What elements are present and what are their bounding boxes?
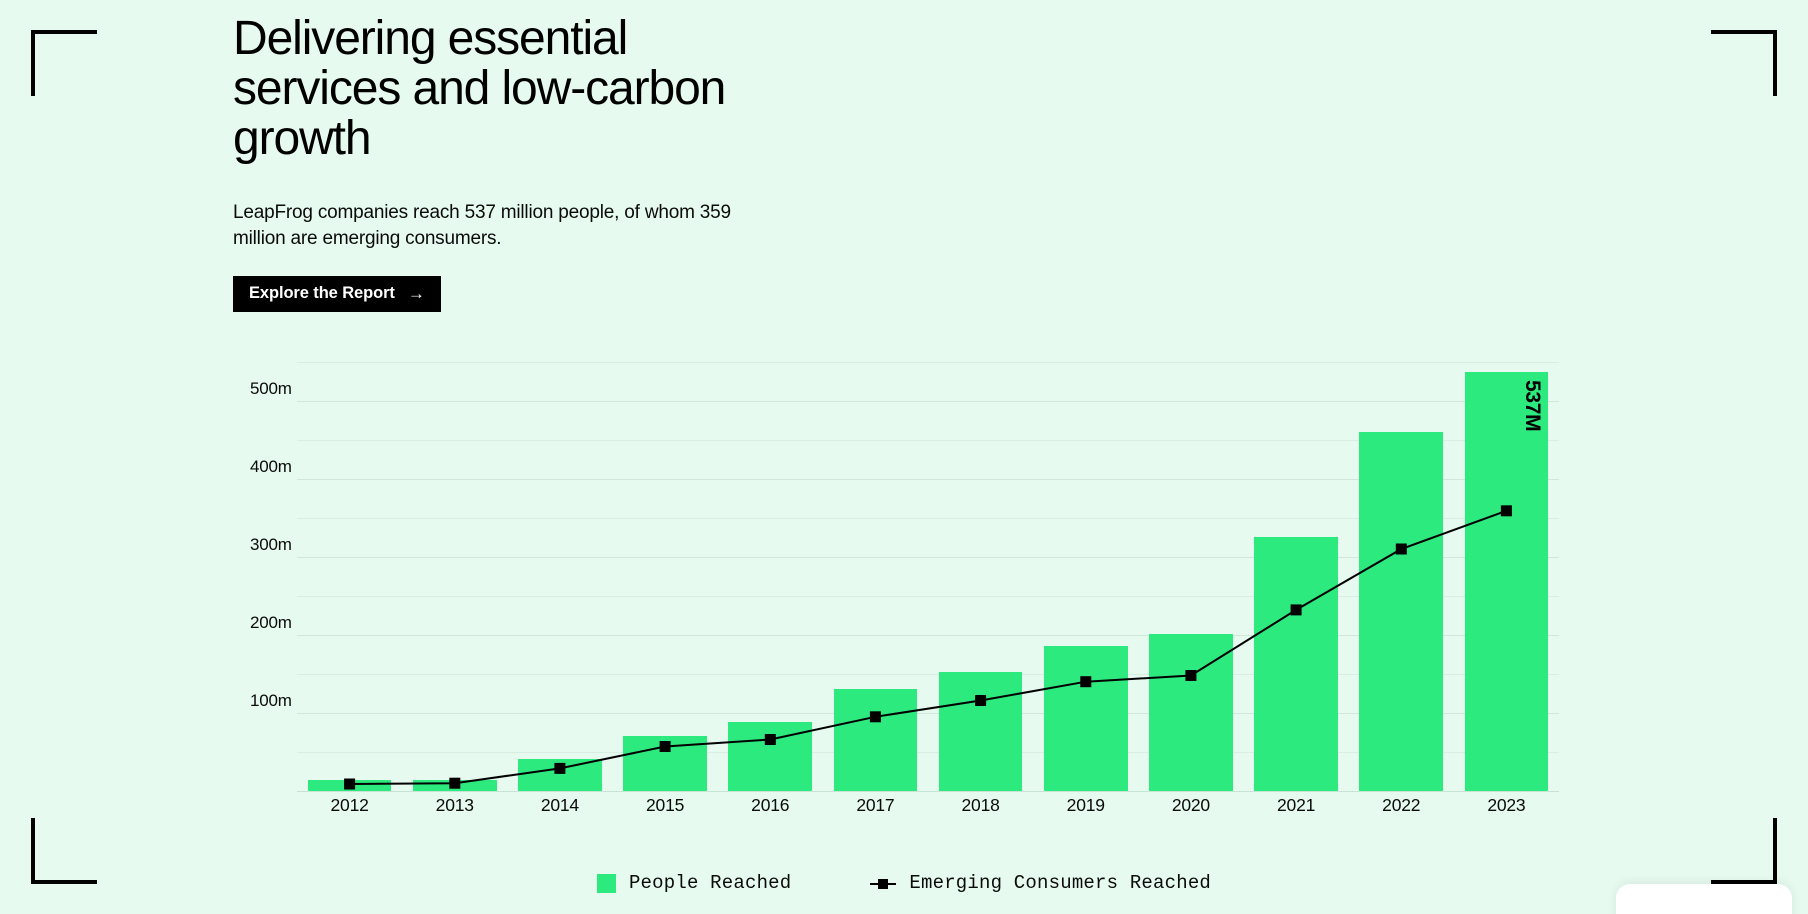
chart-legend: People Reached Emerging Consumers Reache… — [0, 872, 1808, 894]
green-square-icon — [597, 874, 616, 893]
x-axis-label-2013: 2013 — [402, 795, 507, 816]
corner-bracket-top-right — [1711, 30, 1777, 96]
x-axis-label-2015: 2015 — [613, 795, 718, 816]
chart-plot-area: 537M 100m200m300m400m500m — [250, 340, 1570, 790]
gridline-0 — [297, 791, 1559, 792]
line-marker-2014[interactable] — [554, 763, 565, 774]
line-marker-2021[interactable] — [1291, 604, 1302, 615]
x-axis-label-2020: 2020 — [1138, 795, 1243, 816]
y-axis-label-500m: 500m — [250, 379, 292, 399]
line-marker-2018[interactable] — [975, 695, 986, 706]
chart-section: 537M 100m200m300m400m500m 20122013201420… — [0, 340, 1808, 914]
line-marker-2015[interactable] — [660, 741, 671, 752]
chat-widget-peek[interactable] — [1616, 884, 1792, 914]
line-marker-2022[interactable] — [1396, 544, 1407, 555]
emerging-consumers-line — [350, 511, 1507, 784]
line-marker-2017[interactable] — [870, 711, 881, 722]
legend-item-people-reached[interactable]: People Reached — [597, 872, 791, 894]
x-axis-label-2023: 2023 — [1454, 795, 1559, 816]
x-axis-label-2014: 2014 — [507, 795, 612, 816]
x-axis-label-2016: 2016 — [718, 795, 823, 816]
line-marker-2020[interactable] — [1185, 670, 1196, 681]
y-axis-label-100m: 100m — [250, 691, 292, 711]
cta-label: Explore the Report — [249, 285, 395, 302]
legend-label-emerging-consumers: Emerging Consumers Reached — [909, 872, 1211, 894]
x-axis-label-2019: 2019 — [1033, 795, 1138, 816]
y-axis-label-400m: 400m — [250, 457, 292, 477]
line-marker-2012[interactable] — [344, 779, 355, 790]
hero-subtitle: LeapFrog companies reach 537 million peo… — [233, 200, 758, 252]
line-marker-2019[interactable] — [1080, 676, 1091, 687]
x-axis-label-2021: 2021 — [1244, 795, 1349, 816]
y-axis-label-200m: 200m — [250, 613, 292, 633]
x-axis-label-2012: 2012 — [297, 795, 402, 816]
line-marker-icon — [870, 874, 896, 893]
line-marker-2013[interactable] — [449, 778, 460, 789]
x-axis-label-2018: 2018 — [928, 795, 1033, 816]
x-axis-label-2022: 2022 — [1349, 795, 1454, 816]
legend-item-emerging-consumers[interactable]: Emerging Consumers Reached — [870, 872, 1211, 894]
line-marker-2023[interactable] — [1501, 505, 1512, 516]
corner-bracket-top-left — [31, 30, 97, 96]
hero-section: Delivering essential services and low-ca… — [233, 14, 793, 312]
line-marker-2016[interactable] — [765, 734, 776, 745]
x-axis-labels: 2012201320142015201620172018201920202021… — [297, 795, 1559, 823]
page-title: Delivering essential services and low-ca… — [233, 14, 773, 164]
plot-region: 537M — [297, 350, 1559, 791]
legend-label-people-reached: People Reached — [629, 872, 791, 894]
line-series-emerging-consumers — [297, 350, 1559, 791]
x-axis-label-2017: 2017 — [823, 795, 928, 816]
arrow-right-icon: → — [408, 285, 425, 302]
explore-the-report-button[interactable]: Explore the Report → — [233, 276, 441, 312]
y-axis-label-300m: 300m — [250, 535, 292, 555]
